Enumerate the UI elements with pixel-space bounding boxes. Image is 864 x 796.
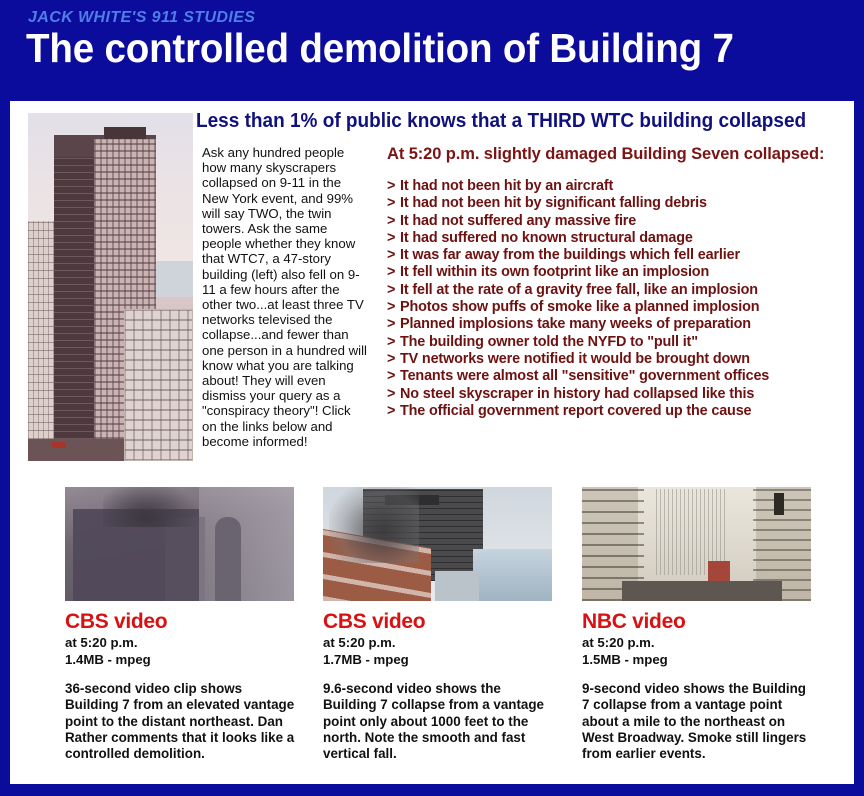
claims-list: >It had not been hit by an aircraft >It …: [387, 178, 847, 420]
claim-marker-icon: >: [387, 368, 400, 385]
video-title-1[interactable]: CBS video: [65, 610, 297, 633]
claim-item: >It had suffered no known structural dam…: [387, 230, 847, 247]
video-card-2[interactable]: CBS video at 5:20 p.m. 1.7MB - mpeg 9.6-…: [323, 487, 555, 762]
claim-item: >It had not been hit by an aircraft: [387, 178, 847, 195]
claim-text: It fell within its own footprint like an…: [400, 264, 709, 280]
video-time-3: at 5:20 p.m.: [582, 635, 814, 650]
video-title-3[interactable]: NBC video: [582, 610, 814, 633]
claim-item: >Photos show puffs of smoke like a plann…: [387, 299, 847, 316]
photo-street: [28, 439, 124, 461]
claim-item: >It fell at the rate of a gravity free f…: [387, 282, 847, 299]
upper-section: Less than 1% of public knows that a THIR…: [10, 101, 854, 473]
content-card: Less than 1% of public knows that a THIR…: [10, 101, 854, 784]
claim-marker-icon: >: [387, 230, 400, 247]
page-title: The controlled demolition of Building 7: [26, 26, 734, 70]
photo-right-building: [124, 309, 193, 461]
claim-text: It had not been hit by an aircraft: [400, 178, 613, 194]
video-size-1: 1.4MB - mpeg: [65, 652, 297, 667]
masthead: JACK WHITE'S 911 STUDIES The controlled …: [0, 0, 864, 100]
video-card-1[interactable]: CBS video at 5:20 p.m. 1.4MB - mpeg 36-s…: [65, 487, 297, 762]
claims-column: At 5:20 p.m. slightly damaged Building S…: [387, 145, 847, 420]
claim-item: >TV networks were notified it would be b…: [387, 351, 847, 368]
claims-heading: At 5:20 p.m. slightly damaged Building S…: [387, 145, 847, 164]
claim-text: The building owner told the NYFD to "pul…: [400, 334, 698, 350]
claim-item: >It fell within its own footprint like a…: [387, 264, 847, 281]
claim-item: >Tenants were almost all "sensitive" gov…: [387, 368, 847, 385]
claim-text: It had not suffered any massive fire: [400, 213, 636, 229]
claim-text: Planned implosions take many weeks of pr…: [400, 316, 751, 332]
claim-text: Photos show puffs of smoke like a planne…: [400, 299, 759, 315]
claim-marker-icon: >: [387, 334, 400, 351]
video-description-2: 9.6-second video shows the Building 7 co…: [323, 681, 555, 762]
claim-marker-icon: >: [387, 195, 400, 212]
photo-car: [52, 442, 66, 448]
claim-text: No steel skyscraper in history had colla…: [400, 386, 754, 402]
claim-item: >Planned implosions take many weeks of p…: [387, 316, 847, 333]
claim-item: >It had not been hit by significant fall…: [387, 195, 847, 212]
claim-text: It had suffered no known structural dama…: [400, 230, 693, 246]
claim-marker-icon: >: [387, 403, 400, 420]
claim-marker-icon: >: [387, 299, 400, 316]
video-thumbnail-1[interactable]: [65, 487, 294, 601]
photo-tower-dark-face: [54, 157, 96, 439]
video-links-section: CBS video at 5:20 p.m. 1.4MB - mpeg 36-s…: [10, 473, 854, 784]
claim-item: >The building owner told the NYFD to "pu…: [387, 334, 847, 351]
video-title-2[interactable]: CBS video: [323, 610, 555, 633]
claim-text: It was far away from the buildings which…: [400, 247, 740, 263]
video-thumbnail-3[interactable]: [582, 487, 811, 601]
video-thumbnail-2[interactable]: [323, 487, 552, 601]
video-card-3[interactable]: NBC video at 5:20 p.m. 1.5MB - mpeg 9-se…: [582, 487, 814, 762]
video-description-1: 36-second video clip shows Building 7 fr…: [65, 681, 297, 762]
claim-marker-icon: >: [387, 282, 400, 299]
claim-item: >It was far away from the buildings whic…: [387, 247, 847, 264]
claim-item: >No steel skyscraper in history had coll…: [387, 386, 847, 403]
video-description-3: 9-second video shows the Building 7 coll…: [582, 681, 814, 762]
video-time-2: at 5:20 p.m.: [323, 635, 555, 650]
claim-marker-icon: >: [387, 178, 400, 195]
claim-text: Tenants were almost all "sensitive" gove…: [400, 368, 769, 384]
video-size-2: 1.7MB - mpeg: [323, 652, 555, 667]
claim-marker-icon: >: [387, 213, 400, 230]
poster-page: JACK WHITE'S 911 STUDIES The controlled …: [0, 0, 864, 796]
claim-item: >It had not suffered any massive fire: [387, 213, 847, 230]
claim-marker-icon: >: [387, 247, 400, 264]
video-time-1: at 5:20 p.m.: [65, 635, 297, 650]
claim-marker-icon: >: [387, 316, 400, 333]
section-subheadline: Less than 1% of public knows that a THIR…: [196, 110, 806, 133]
claim-marker-icon: >: [387, 264, 400, 281]
wtc7-building-photo: [28, 113, 193, 461]
claim-text: TV networks were notified it would be br…: [400, 351, 750, 367]
lead-paragraph: Ask any hundred people how many skyscrap…: [202, 145, 368, 449]
photo-roof-penthouse: [104, 127, 146, 139]
claim-marker-icon: >: [387, 386, 400, 403]
claim-text: The official government report covered u…: [400, 403, 751, 419]
video-size-3: 1.5MB - mpeg: [582, 652, 814, 667]
photo-river: [156, 261, 193, 297]
claim-text: It fell at the rate of a gravity free fa…: [400, 282, 758, 298]
claim-marker-icon: >: [387, 351, 400, 368]
claim-text: It had not been hit by significant falli…: [400, 195, 707, 211]
claim-item: >The official government report covered …: [387, 403, 847, 420]
